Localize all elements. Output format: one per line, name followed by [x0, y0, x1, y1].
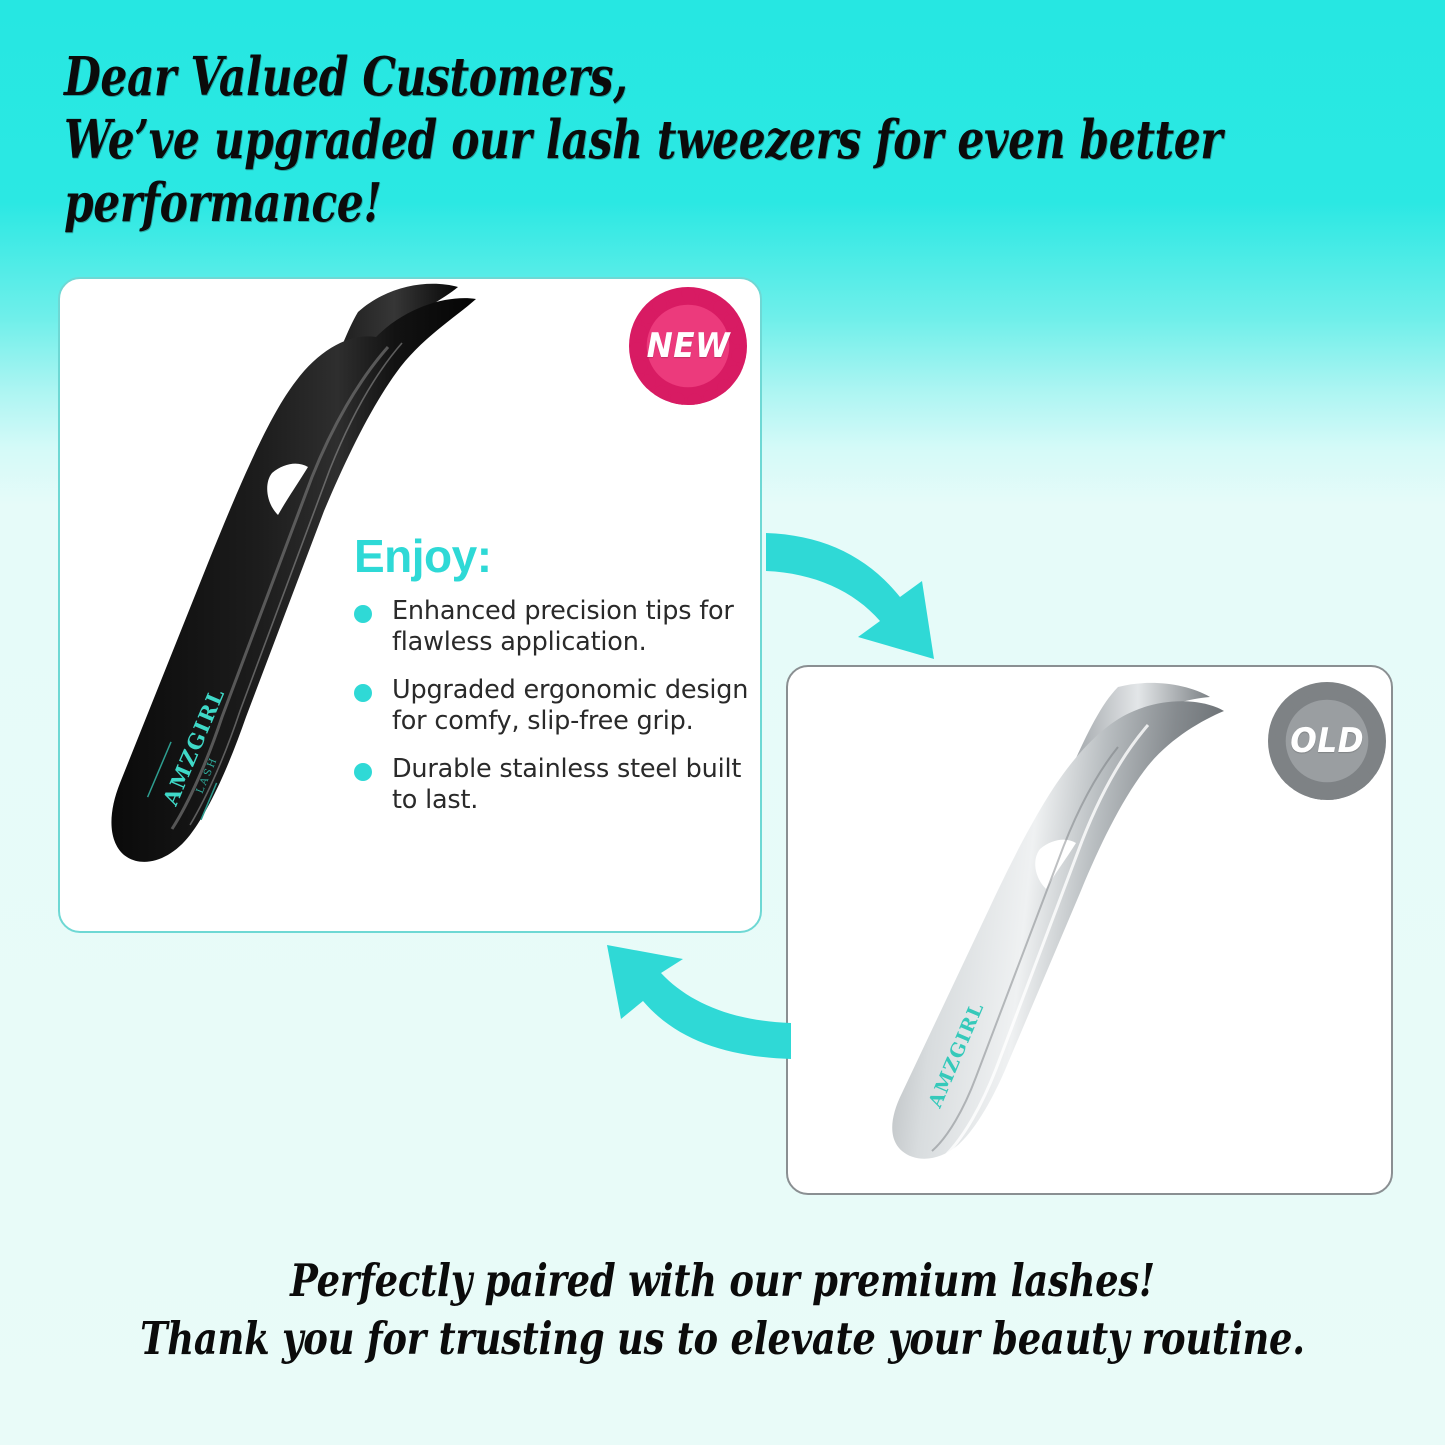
footer-line-1: Perfectly paired with our premium lashes…	[130, 1252, 1315, 1310]
bullet-dot-icon	[354, 605, 372, 623]
benefit-text: Durable stainless steel built to last.	[392, 754, 741, 815]
old-tweezer-image: AMZGIRL	[818, 677, 1258, 1177]
promo-banner: Dear Valued Customers, We’ve upgraded ou…	[0, 0, 1445, 1445]
headline-line-3: performance!	[64, 172, 1392, 235]
page-title: Dear Valued Customers, We’ve upgraded ou…	[64, 46, 1392, 235]
headline-line-2: We’ve upgraded our lash tweezers for eve…	[64, 109, 1392, 172]
benefit-text: Upgraded ergonomic design for comfy, sli…	[392, 675, 748, 736]
enjoy-heading: Enjoy:	[354, 530, 750, 582]
footer-line-2: Thank you for trusting us to elevate you…	[130, 1310, 1315, 1368]
list-item: Upgraded ergonomic design for comfy, sli…	[354, 675, 750, 737]
arrow-old-to-new-icon	[595, 945, 795, 1065]
new-badge: NEW	[629, 287, 747, 405]
headline-line-1: Dear Valued Customers,	[64, 46, 1392, 109]
bullet-dot-icon	[354, 763, 372, 781]
new-badge-label: NEW	[646, 326, 729, 366]
footer-message: Perfectly paired with our premium lashes…	[0, 1252, 1445, 1368]
list-item: Durable stainless steel built to last.	[354, 754, 750, 816]
list-item: Enhanced precision tips for flawless app…	[354, 596, 750, 658]
bullet-dot-icon	[354, 684, 372, 702]
enjoy-block: Enjoy: Enhanced precision tips for flawl…	[354, 530, 750, 833]
arrow-new-to-old-icon	[762, 525, 967, 665]
old-badge: OLD	[1268, 682, 1386, 800]
benefit-text: Enhanced precision tips for flawless app…	[392, 596, 734, 657]
old-badge-label: OLD	[1290, 721, 1364, 761]
benefit-list: Enhanced precision tips for flawless app…	[354, 596, 750, 816]
